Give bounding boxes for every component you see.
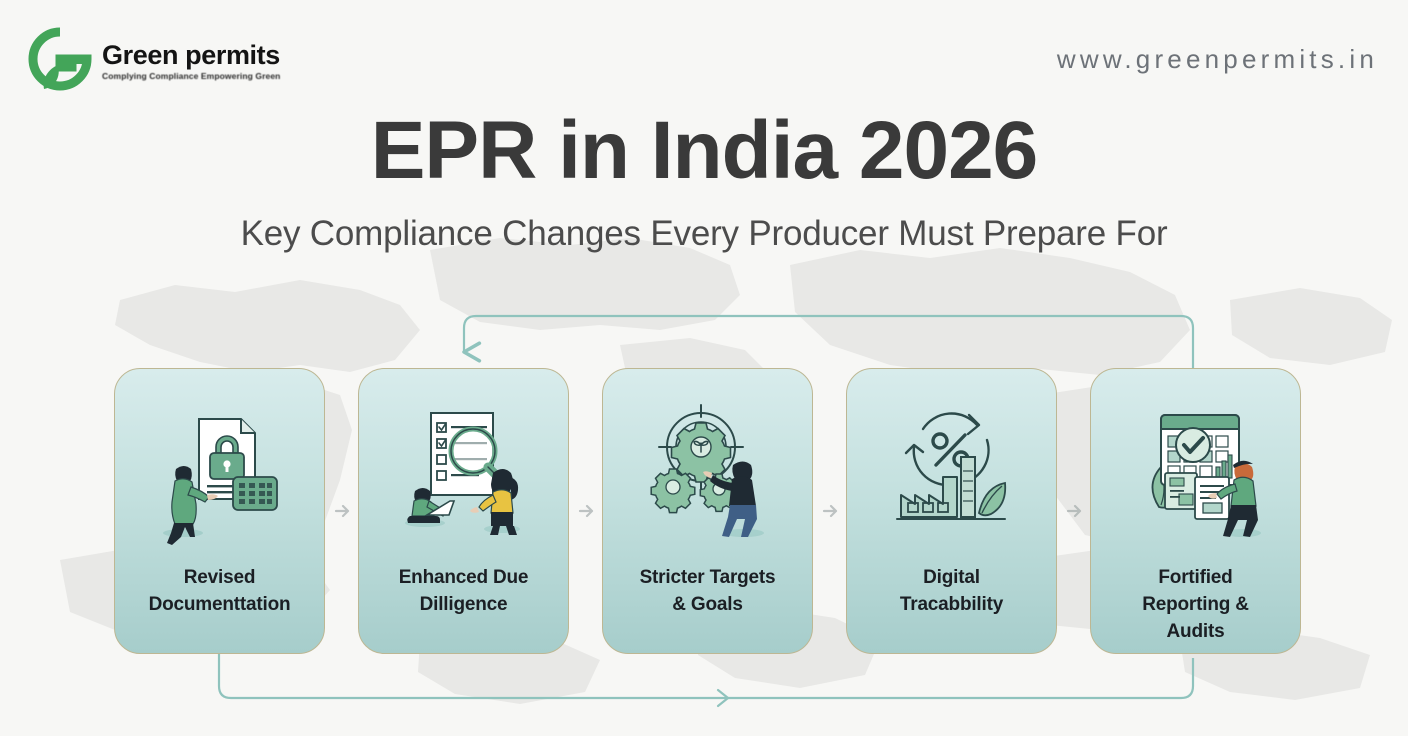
brand-logo[interactable]: Green permits Complying Compliance Empow… <box>28 27 280 91</box>
steps-row: Revised Documenttation <box>114 368 1304 654</box>
card-art-2 <box>359 369 568 565</box>
chevron-right-arrow-icon <box>817 498 843 524</box>
locked-document-keypad-person-icon <box>145 395 295 545</box>
chevron-right-arrow-icon <box>329 498 355 524</box>
card-stricter-targets-goals[interactable]: Stricter Targets & Goals <box>602 368 813 654</box>
chevron-right-arrow-icon <box>573 498 599 524</box>
card-label-5: Fortified Reporting & Audits <box>1134 565 1257 646</box>
bottom-connector-arrowhead <box>718 690 728 706</box>
card-art-5 <box>1091 369 1300 565</box>
title-block: EPR in India 2026 Key Compliance Changes… <box>0 110 1408 254</box>
card-digital-traceability[interactable]: Digital Tracabbility <box>846 368 1057 654</box>
card-label-line: Dilligence <box>399 592 529 619</box>
card-label-line: Enhanced Due <box>399 565 529 592</box>
site-url[interactable]: www.greenpermits.in <box>1057 44 1378 75</box>
recycle-percent-factory-leaf-icon <box>877 395 1027 545</box>
bottom-connector-path <box>219 654 1193 698</box>
card-label-3: Stricter Targets & Goals <box>632 565 784 619</box>
connector-1-2 <box>325 368 358 654</box>
card-label-line: & Goals <box>640 592 776 619</box>
calendar-checkmark-report-person-icon <box>1121 395 1271 545</box>
card-enhanced-due-diligence[interactable]: Enhanced Due Dilligence <box>358 368 569 654</box>
chevron-right-arrow-icon <box>1061 498 1087 524</box>
card-label-line: Fortified <box>1142 565 1249 592</box>
connector-4-5 <box>1057 368 1090 654</box>
page-title: EPR in India 2026 <box>0 110 1408 192</box>
card-art-1 <box>115 369 324 565</box>
checklist-magnifier-people-icon <box>389 395 539 545</box>
card-label-line: Tracabbility <box>900 592 1003 619</box>
connector-2-3 <box>569 368 602 654</box>
top-connector-path <box>464 316 1193 368</box>
connector-3-4 <box>813 368 846 654</box>
card-label-line: Reporting & <box>1142 592 1249 619</box>
card-label-line: Digital <box>900 565 1003 592</box>
card-art-3 <box>603 369 812 565</box>
page-subtitle: Key Compliance Changes Every Producer Mu… <box>0 214 1408 254</box>
brand-name: Green permits <box>102 41 280 69</box>
brand-tagline: Complying Compliance Empowering Green <box>102 71 280 81</box>
card-art-4 <box>847 369 1056 565</box>
card-label-line: Stricter Targets <box>640 565 776 592</box>
card-label-line: Audits <box>1142 619 1249 646</box>
card-label-line: Documenttation <box>149 592 291 619</box>
card-label-2: Enhanced Due Dilligence <box>391 565 537 619</box>
card-label-1: Revised Documenttation <box>141 565 299 619</box>
card-label-line: Revised <box>149 565 291 592</box>
card-revised-documentation[interactable]: Revised Documenttation <box>114 368 325 654</box>
green-g-leaf-logo-icon <box>28 27 92 91</box>
card-fortified-reporting-audits[interactable]: Fortified Reporting & Audits <box>1090 368 1301 654</box>
target-gears-person-icon <box>633 395 783 545</box>
page-header: Green permits Complying Compliance Empow… <box>0 0 1408 118</box>
card-label-4: Digital Tracabbility <box>892 565 1011 619</box>
